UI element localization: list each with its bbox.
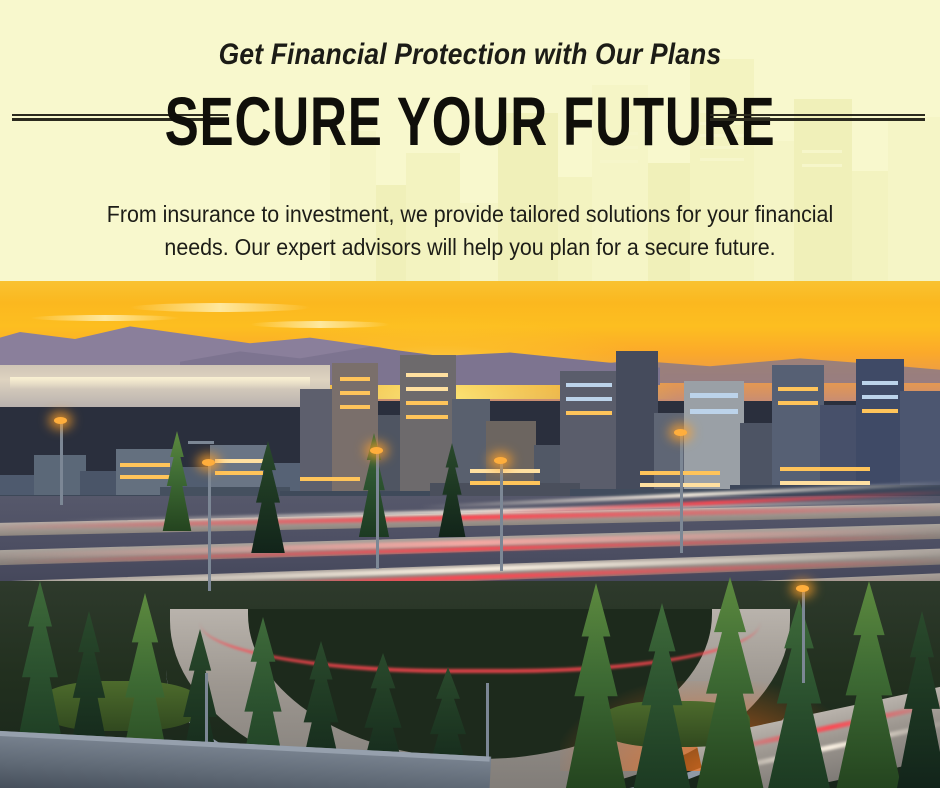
- street-lamp-pole: [60, 419, 63, 505]
- cloud-streak: [30, 315, 180, 321]
- street-lamp-light: [494, 457, 507, 464]
- cloud-streak: [250, 321, 390, 328]
- evergreen-tree: [436, 443, 468, 537]
- street-lamp-pole: [376, 449, 379, 569]
- evergreen-tree: [628, 603, 696, 788]
- street-lamp-pole: [680, 431, 683, 553]
- evergreen-tree: [160, 431, 194, 531]
- evergreen-tree: [892, 611, 940, 788]
- evergreen-tree: [762, 599, 836, 788]
- street-lamp-light: [674, 429, 687, 436]
- street-lamp-pole: [188, 441, 214, 444]
- street-lamp-light: [54, 417, 67, 424]
- banner-header: Get Financial Protection with Our Plans …: [0, 0, 940, 281]
- decorative-rule-right: [710, 114, 925, 121]
- cloud-streak: [130, 303, 310, 312]
- banner-tagline: Get Financial Protection with Our Plans: [56, 38, 883, 72]
- evergreen-tree: [248, 441, 288, 553]
- evergreen-tree: [560, 583, 632, 788]
- promotional-banner: Get Financial Protection with Our Plans …: [0, 0, 940, 788]
- street-lamp-pole: [500, 459, 503, 571]
- page-title: SECURE YOUR FUTURE: [94, 84, 846, 159]
- evergreen-tree: [690, 577, 770, 788]
- street-lamp-pole: [802, 587, 805, 683]
- evergreen-tree: [10, 581, 70, 756]
- street-lamp-pole: [208, 461, 211, 591]
- cityscape-photo: ❯ ❯: [0, 281, 940, 788]
- street-lamp-light: [202, 459, 215, 466]
- headline-row: SECURE YOUR FUTURE: [0, 84, 940, 156]
- street-lamp-light: [370, 447, 383, 454]
- street-lamp-light: [796, 585, 809, 592]
- banner-description: From insurance to investment, we provide…: [84, 198, 856, 264]
